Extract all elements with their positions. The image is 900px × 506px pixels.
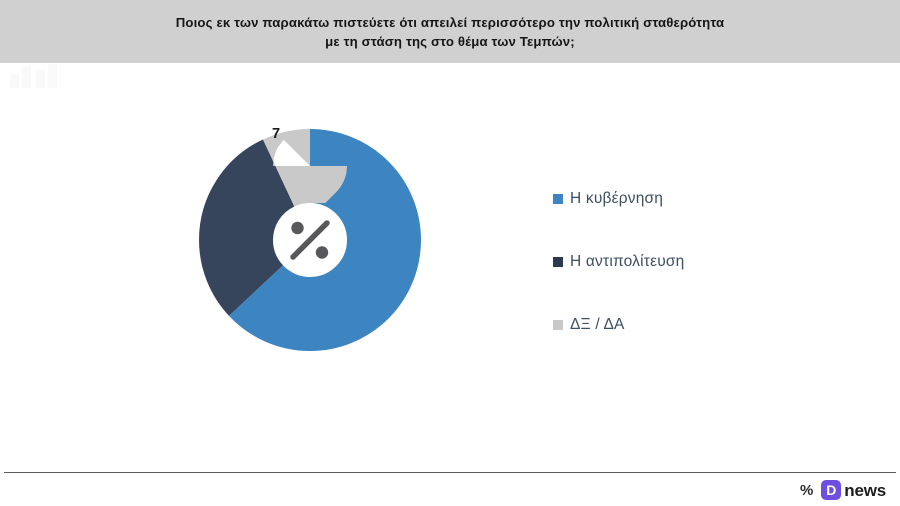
brand-d-icon: D: [821, 480, 841, 500]
legend-label-government: Η κυβέρνηση: [570, 190, 663, 208]
legend-swatch-opposition: [553, 257, 563, 267]
legend-label-dk-da: ΔΞ / ΔΑ: [570, 316, 625, 334]
page-title-line-2: με τη στάση της στο θέμα των Τεμπών;: [325, 32, 575, 51]
legend-swatch-dk-da: [553, 320, 563, 330]
chart-plot-area: 63 30 7 Η κυβέρνηση Η αντιπολίτευση ΔΞ /…: [0, 63, 900, 472]
footer-divider: [4, 472, 896, 473]
legend-label-opposition: Η αντιπολίτευση: [570, 253, 684, 271]
data-label-dk-da: 7: [272, 126, 280, 142]
chart-legend: Η κυβέρνηση Η αντιπολίτευση ΔΞ / ΔΑ: [553, 188, 853, 336]
legend-item-government[interactable]: Η κυβέρνηση: [553, 188, 853, 210]
chart-page: Ποιος εκ των παρακάτω πιστεύετε ότι απει…: [0, 0, 900, 506]
data-label-opposition: 30: [178, 245, 195, 261]
legend-item-dk-da[interactable]: ΔΞ / ΔΑ: [553, 314, 853, 336]
data-label-government: 63: [405, 310, 422, 326]
brand-logo: % D news: [800, 479, 886, 501]
legend-swatch-government: [553, 194, 563, 204]
page-title-line-1: Ποιος εκ των παρακάτω πιστεύετε ότι απει…: [176, 13, 725, 32]
brand-percent-icon: %: [800, 483, 813, 498]
legend-item-opposition[interactable]: Η αντιπολίτευση: [553, 251, 853, 273]
donut-chart: 63 30 7: [162, 92, 458, 388]
percent-symbol-icon: [280, 210, 340, 270]
chart-title-band: Ποιος εκ των παρακάτω πιστεύετε ότι απει…: [0, 0, 900, 63]
brand-name-text: news: [844, 482, 886, 499]
